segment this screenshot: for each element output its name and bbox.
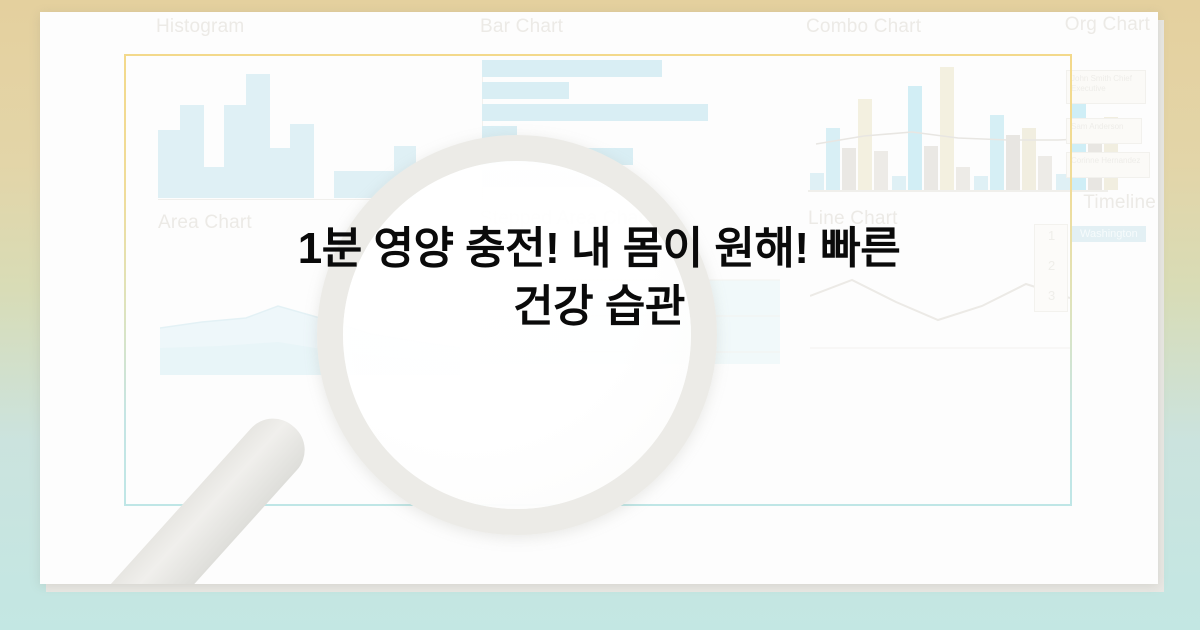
timeline-row-2: 3 [1048,288,1055,303]
chart-label-area-chart: Area Chart [158,212,252,234]
histogram-chart [158,74,413,198]
timeline-row-1: 2 [1048,258,1055,273]
timeline-chart: 1 2 3 Washington [1034,208,1154,328]
org-node-0: John Smith Chief Executive [1066,70,1146,104]
timeline-row-0: 1 [1048,228,1055,243]
org-chart: John Smith Chief Executive Sam Anderson … [1040,70,1152,180]
chart-label-combo-chart: Combo Chart [806,16,921,38]
chart-label-bar-chart: Bar Chart [480,16,563,38]
page-title: 1분 영양 충전! 내 몸이 원해! 빠른 건강 습관 [289,220,909,336]
chart-label-histogram: Histogram [156,16,244,38]
timeline-badge: Washington [1072,226,1146,242]
chart-label-org-chart: Org Chart [1065,14,1150,36]
org-node-1: Sam Anderson [1066,118,1142,144]
content-card: Histogram Area Chart Bar Chart [40,12,1158,584]
bar-chart [482,60,772,200]
org-node-2: Corinne Hernandez [1066,152,1150,178]
